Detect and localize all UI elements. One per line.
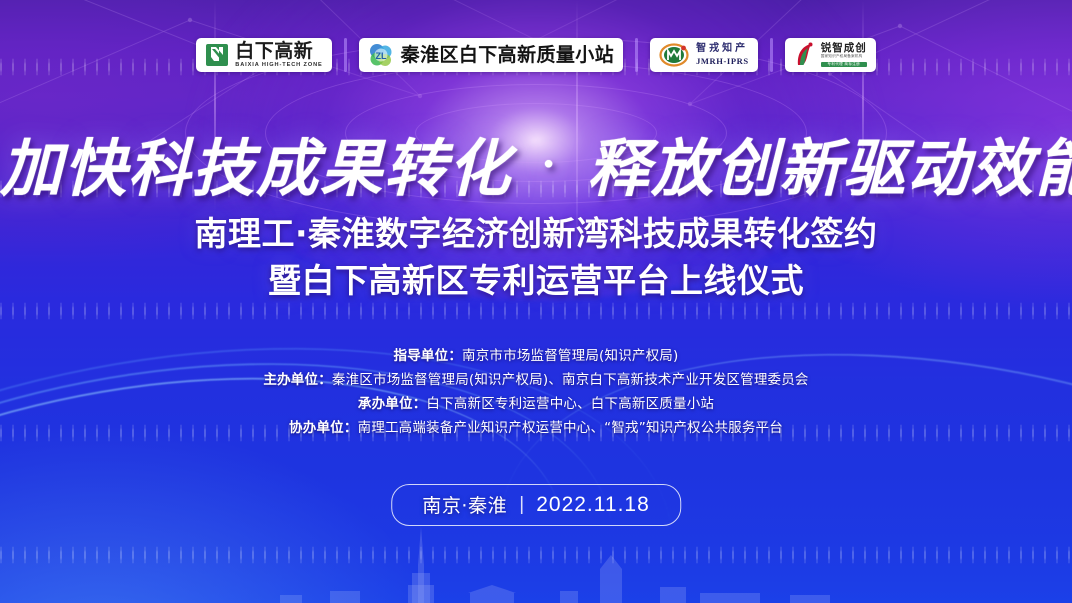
- organizer-colon: ：: [318, 372, 332, 388]
- logo-baixia-en-text: BAIXIA HIGH-TECH ZONE: [235, 63, 322, 69]
- organizer-list: 指导单位：南京市市场监督管理局(知识产权局) 主办单位：秦淮区市场监督管理局(知…: [0, 344, 1072, 436]
- location-text: 南京·秦淮: [422, 491, 507, 518]
- logo-ruizhi-chengchuang: 锐智成创 国家知识产权局备案机构 专利代理 商标注册: [785, 38, 876, 72]
- ribbon-mark-icon: [794, 42, 816, 68]
- badge-divider: |: [519, 494, 524, 516]
- organizer-value: 秦淮区市场监督管理局(知识产权局)、南京白下高新技术产业开发区管理委员会: [332, 372, 809, 388]
- logo-divider: [635, 38, 638, 72]
- sponsor-logo-bar: 白下高新 BAIXIA HIGH-TECH ZONE ZL 秦淮区白下高新质量小…: [0, 38, 1072, 72]
- event-banner: 白下高新 BAIXIA HIGH-TECH ZONE ZL 秦淮区白下高新质量小…: [0, 0, 1072, 603]
- organizer-label: 承办单位: [358, 396, 413, 412]
- m-oval-mark-icon: [659, 42, 689, 68]
- main-title-left: 加快科技成果转化: [0, 132, 512, 205]
- organizer-row: 承办单位：白下高新区专利运营中心、白下高新区质量小站: [358, 392, 714, 412]
- organizer-value: 白下高新区专利运营中心、白下高新区质量小站: [426, 396, 714, 412]
- logo-divider: [344, 38, 347, 72]
- logo-ruizhi-sub-text: 国家知识产权局备案机构: [821, 55, 867, 59]
- main-title-right: 释放创新驱动效能: [587, 132, 1072, 205]
- main-title: 加快科技成果转化 · 释放创新驱动效能: [0, 118, 1072, 208]
- logo-jmrh-iprs: 智戎知产 JMRH-IPRS: [650, 38, 758, 72]
- organizer-row: 主办单位：秦淮区市场监督管理局(知识产权局)、南京白下高新技术产业开发区管理委员…: [263, 368, 808, 388]
- organizer-row: 协办单位：南理工高端装备产业知识产权运营中心、“智戎”知识产权公共服务平台: [289, 416, 783, 436]
- organizer-label: 协办单位: [289, 420, 344, 436]
- organizer-label: 主办单位: [263, 372, 318, 388]
- logo-baixia-cn-text: 白下高新: [235, 42, 322, 61]
- leaf-square-mark-icon: [205, 42, 229, 68]
- organizer-colon: ：: [344, 420, 358, 436]
- organizer-value: 南理工高端装备产业知识产权运营中心、“智戎”知识产权公共服务平台: [358, 420, 783, 436]
- date-text: 2022.11.18: [536, 493, 650, 517]
- organizer-colon: ：: [448, 348, 462, 364]
- organizer-colon: ：: [413, 396, 427, 412]
- logo-divider: [770, 38, 773, 72]
- logo-qinhuai-quality-station: ZL 秦淮区白下高新质量小站: [359, 38, 623, 72]
- logo-ruizhi-bar-text: 专利代理 商标注册: [821, 62, 867, 68]
- logo-jmrh-en-text: JMRH-IPRS: [696, 57, 749, 66]
- location-date-badge: 南京·秦淮 | 2022.11.18: [391, 484, 681, 526]
- logo-ruizhi-cn-text: 锐智成创: [821, 43, 867, 54]
- zl-circle-mark-icon: ZL: [368, 42, 394, 68]
- organizer-label: 指导单位: [394, 348, 449, 364]
- main-title-separator: ·: [536, 141, 564, 188]
- svg-text:ZL: ZL: [375, 51, 386, 61]
- subtitle-line-1: 南理工·秦淮数字经济创新湾科技成果转化签约: [0, 207, 1072, 255]
- organizer-row: 指导单位：南京市市场监督管理局(知识产权局): [394, 344, 679, 364]
- logo-jmrh-cn-text: 智戎知产: [696, 44, 749, 54]
- organizer-value: 南京市市场监督管理局(知识产权局): [462, 348, 678, 364]
- subtitle-line-2: 暨白下高新区专利运营平台上线仪式: [0, 254, 1072, 302]
- logo-qinhuai-cn-text: 秦淮区白下高新质量小站: [401, 46, 614, 65]
- logo-baixia-high-tech-zone: 白下高新 BAIXIA HIGH-TECH ZONE: [196, 38, 331, 72]
